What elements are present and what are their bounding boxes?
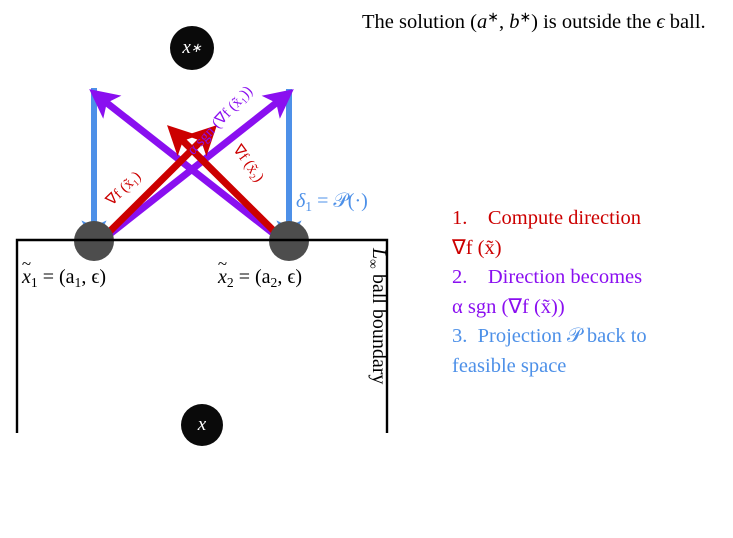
step-2-index: 2. — [452, 266, 467, 288]
step-3-text: Projection 𝒫 back to — [478, 325, 647, 347]
explanation-text: The solution (a∗, b∗) is outside the ϵ b… — [362, 8, 722, 37]
prose-line1-prefix: The solution ( — [362, 11, 477, 33]
prose-epsilon: ϵ — [656, 11, 664, 33]
prose-line2-prefix: outside the — [562, 11, 657, 33]
boundary-L: L — [368, 248, 390, 259]
node-x-star-superscript: ∗ — [191, 40, 202, 56]
step-2: 2. Direction becomes — [452, 263, 720, 293]
step-3-index: 3. — [452, 325, 467, 347]
point-label-x-tilde-2: ~x2 = (a2, ϵ) — [218, 266, 302, 291]
step-1-index: 1. — [452, 207, 467, 229]
delta-symbol: δ — [296, 190, 305, 212]
step-1: 1. Compute direction — [452, 204, 720, 234]
step-3-formula: feasible space — [452, 352, 720, 382]
x1-rhs: = (a — [43, 266, 75, 288]
x2-rhs: = (a — [239, 266, 271, 288]
x2-subscript: 2 — [227, 275, 234, 290]
prose-line1-suffix: ) is — [531, 11, 557, 33]
diagram-canvas: x∗ x ~x1 = (a1, ϵ) ~x2 = (a2, ϵ) δ1 = 𝒫(… — [0, 0, 733, 538]
delta-equals: = — [312, 190, 333, 212]
prose-line2-suffix: ball. — [665, 11, 706, 33]
x1-rhs-tail: , ϵ) — [81, 266, 106, 288]
prose-a-star: ∗ — [487, 11, 499, 26]
delta-projection-operator: 𝒫(·) — [333, 190, 367, 212]
delta-projection-label: δ1 = 𝒫(·) — [296, 190, 368, 215]
step-2-text: Direction becomes — [488, 266, 642, 288]
prose-b-var: b — [509, 11, 519, 33]
node-x-star: x∗ — [170, 26, 214, 70]
prose-b-star: ∗ — [519, 11, 531, 26]
boundary-text: ball boundary — [368, 274, 390, 385]
prose-a-var: a — [477, 11, 487, 33]
step-1-text: Compute direction — [488, 207, 641, 229]
node-x: x — [181, 404, 223, 446]
step-1-formula: ∇f (x̃) — [452, 234, 720, 264]
prose-comma: , — [499, 11, 509, 33]
steps-list: 1. Compute direction ∇f (x̃) 2. Directio… — [452, 204, 720, 381]
node-x-star-label: x — [182, 37, 190, 59]
linf-boundary-label: L∞ ball boundary — [365, 248, 390, 384]
x1-subscript: 1 — [31, 275, 38, 290]
boundary-infinity-icon: ∞ — [366, 259, 381, 269]
step-2-formula: α sgn (∇f (x̃)) — [452, 293, 720, 323]
step-3: 3. Projection 𝒫 back to — [452, 322, 720, 352]
node-x-label: x — [198, 414, 206, 436]
x2-rhs-tail: , ϵ) — [277, 266, 302, 288]
point-label-x-tilde-1: ~x1 = (a1, ϵ) — [22, 266, 106, 291]
